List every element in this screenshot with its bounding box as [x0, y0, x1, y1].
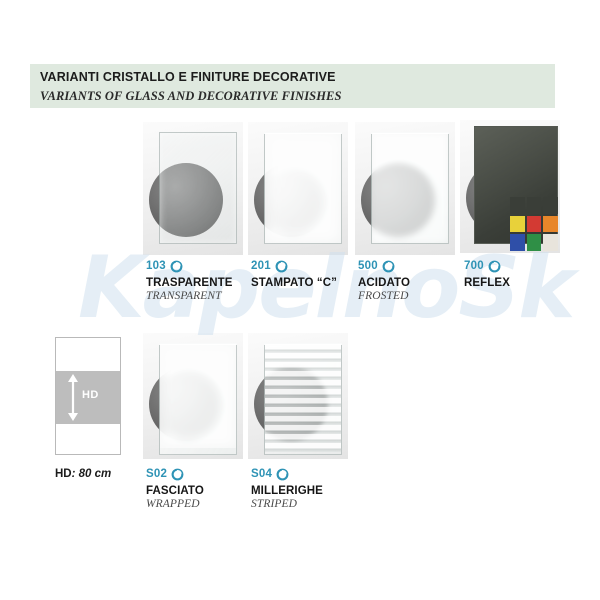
glass-sample-image-103 [143, 122, 243, 255]
cube-cell-5 [543, 216, 558, 233]
sample-name-en: FROSTED [358, 290, 410, 302]
sample-name-it: MILLERIGHE [251, 485, 323, 497]
sample-code: 201 [251, 260, 271, 272]
sample-thumb-stampato[interactable] [248, 122, 348, 255]
ring-icon [275, 260, 288, 273]
sample-code: 700 [464, 260, 484, 272]
cube-cell-1 [527, 197, 542, 214]
hd-band-label: HD [82, 389, 99, 401]
ring-icon [171, 468, 184, 481]
pane-edge-highlight [264, 343, 342, 345]
glass-sample-image-201 [248, 122, 348, 255]
sample-name-it: REFLEX [464, 277, 510, 289]
sample-thumb-transparent[interactable] [143, 122, 243, 255]
pane-edge-highlight [371, 132, 449, 134]
pane-edge-highlight [159, 343, 237, 345]
code-row: S04 [251, 466, 323, 482]
sample-name-en: STRIPED [251, 498, 323, 510]
glass-sample-image-500 [355, 122, 455, 255]
page-title: VARIANTI CRISTALLO E FINITURE DECORATIVE [40, 70, 336, 84]
cube-cell-7 [527, 234, 542, 251]
ring-icon [170, 260, 183, 273]
hd-caption-value: : 80 cm [72, 468, 112, 480]
sample-label-millerighe: S04 MILLERIGHE STRIPED [251, 466, 323, 510]
cube-cell-0 [510, 197, 525, 214]
sample-label-transparent: 103 TRASPARENTE TRANSPARENT [146, 258, 233, 302]
code-row: 500 [358, 258, 410, 274]
glass-pane-overlay [160, 133, 236, 243]
code-row: 103 [146, 258, 233, 274]
sample-label-stampato: 201 STAMPATO “C” [251, 258, 337, 290]
cube-cell-3 [510, 216, 525, 233]
sample-code: S04 [251, 468, 272, 480]
sample-label-reflex: 700 REFLEX [464, 258, 510, 290]
glass-sample-image-s02 [143, 333, 243, 459]
sample-name-it: TRASPARENTE [146, 277, 233, 289]
code-row: 201 [251, 258, 337, 274]
glass-sample-image-s04 [248, 333, 348, 459]
sample-name-it: STAMPATO “C” [251, 277, 337, 289]
glass-stripe-overlay [265, 344, 341, 452]
code-row: S02 [146, 466, 204, 482]
glass-frost-overlay [372, 133, 448, 243]
sample-code: 103 [146, 260, 166, 272]
page-subtitle: VARIANTS OF GLASS AND DECORATIVE FINISHE… [40, 89, 342, 104]
cube-cell-6 [510, 234, 525, 251]
cube-cell-2 [543, 197, 558, 214]
glass-sample-image-700 [460, 120, 560, 253]
code-row: 700 [464, 258, 510, 274]
sample-name-it: FASCIATO [146, 485, 204, 497]
ring-icon [488, 260, 501, 273]
sample-code: S02 [146, 468, 167, 480]
hd-double-arrow-icon [67, 374, 79, 421]
hd-height-diagram: HD [55, 337, 121, 455]
ring-icon [382, 260, 395, 273]
sample-code: 500 [358, 260, 378, 272]
ring-icon [276, 468, 289, 481]
sample-label-acidato: 500 ACIDATO FROSTED [358, 258, 410, 302]
hd-caption-key: HD [55, 468, 72, 480]
sample-name-it: ACIDATO [358, 277, 410, 289]
sample-thumb-acidato[interactable] [355, 122, 455, 255]
sample-thumb-fasciato[interactable] [143, 333, 243, 459]
sample-thumb-reflex[interactable] [460, 120, 560, 253]
glass-wrap-overlay [160, 344, 236, 448]
sample-thumb-millerighe[interactable] [248, 333, 348, 459]
pane-edge-highlight [264, 132, 342, 134]
sample-name-en: WRAPPED [146, 498, 204, 510]
cube-cell-4 [527, 216, 542, 233]
color-reference-cube [510, 197, 558, 251]
cube-cell-8 [543, 234, 558, 251]
hd-caption: HD: 80 cm [55, 468, 111, 480]
sample-label-fasciato: S02 FASCIATO WRAPPED [146, 466, 204, 510]
sample-name-en: TRANSPARENT [146, 290, 233, 302]
glass-diffusion-overlay [265, 133, 341, 243]
